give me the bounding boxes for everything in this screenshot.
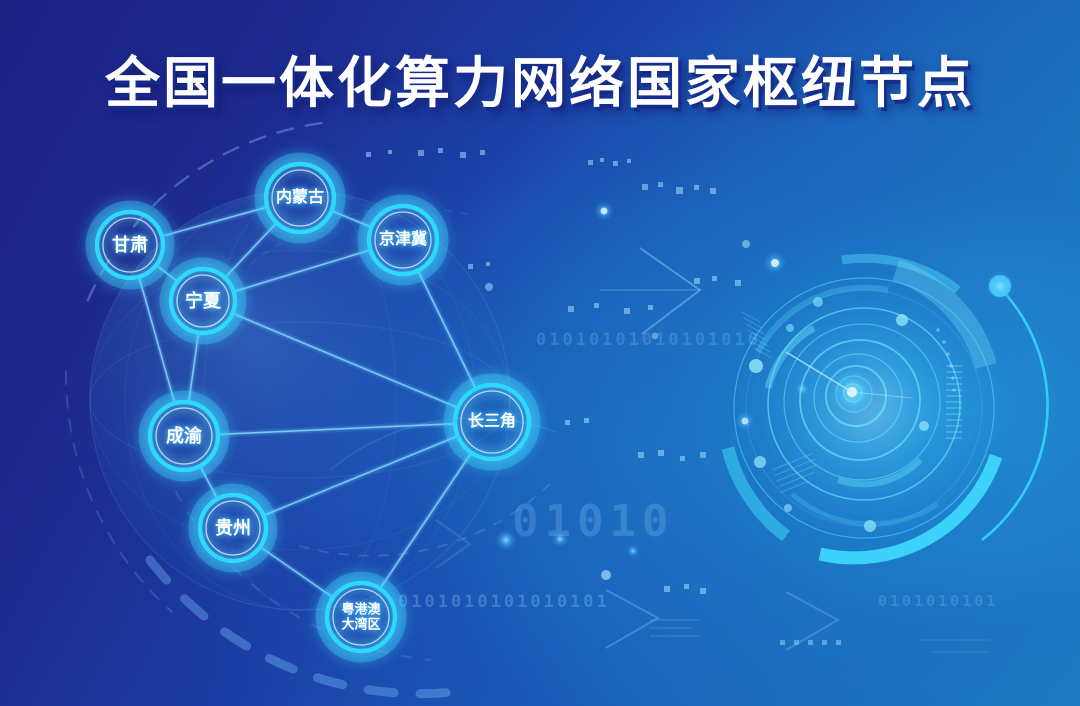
dotted-baseline	[780, 640, 841, 645]
binary-text-top: 01010101010101010	[536, 330, 761, 350]
page-title: 全国一体化算力网络国家枢纽节点	[0, 38, 1080, 118]
binary-text-right: 0101010101	[878, 592, 998, 610]
tech-circle-hud	[703, 243, 1053, 573]
globe-sphere	[90, 190, 510, 610]
binary-text-middle: 01010	[512, 496, 674, 547]
binary-text-bottom: 0101010101010101	[398, 592, 610, 612]
infographic-poster: 01010101010101010 01010 0101010101010101…	[0, 0, 1080, 706]
